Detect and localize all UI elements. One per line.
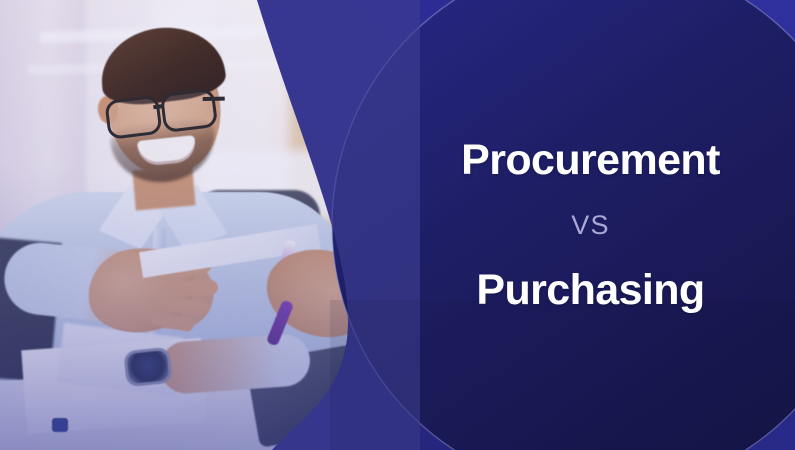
headline-purchasing: Purchasing	[476, 269, 704, 312]
headline-block: Procurement VS Purchasing	[386, 0, 795, 450]
versus-separator: VS	[571, 212, 609, 239]
banner: Procurement VS Purchasing	[0, 0, 795, 450]
headline-procurement: Procurement	[461, 139, 720, 182]
